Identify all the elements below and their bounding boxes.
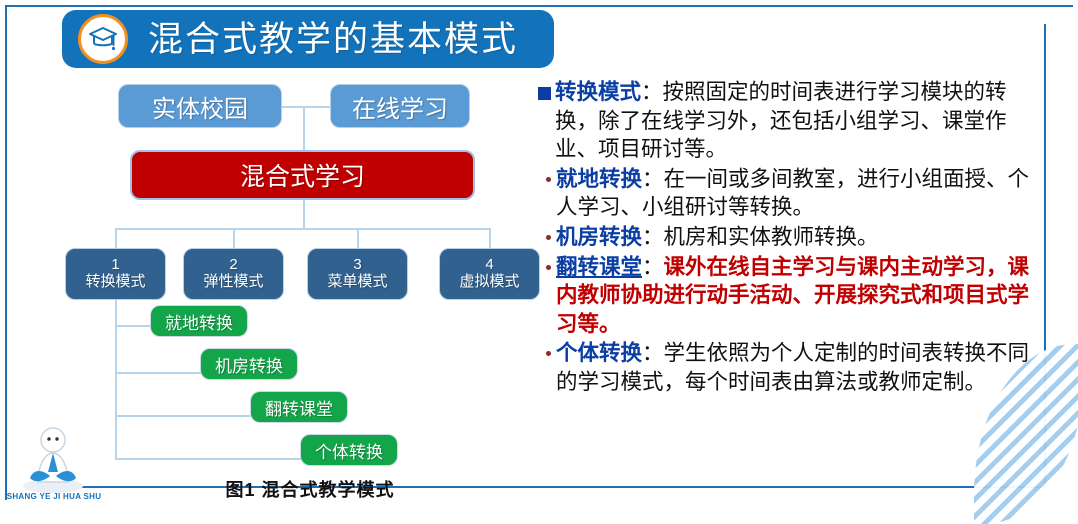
- page-title: 混合式教学的基本模式: [148, 14, 518, 66]
- node-label: 实体校园: [152, 89, 248, 124]
- dot-bullet-icon: [546, 235, 551, 240]
- connector-drop-4: [489, 228, 491, 248]
- bullet-separator: ：: [642, 255, 664, 279]
- main-separator: ：: [641, 80, 663, 104]
- bullet-label: 机房转换: [556, 225, 642, 249]
- paragraph-main: 转换模式：按照固定的时间表进行学习模块的转换，除了在线学习外，还包括小组学习、课…: [538, 78, 1038, 164]
- node-physical-campus[interactable]: 实体校园: [118, 84, 282, 128]
- slide-canvas: 混合式教学的基本模式 实体校园 在线学习 混合式学习 1 转换模式 2: [0, 0, 1078, 514]
- bullet-separator: ：: [642, 341, 664, 365]
- frame-border-top: [5, 5, 1073, 7]
- bullet-body-text: 机房和实体教师转换。: [664, 225, 879, 249]
- connector-mode-bus: [115, 228, 491, 230]
- connector-center-down: [303, 200, 305, 228]
- connector-drop-2: [233, 228, 235, 248]
- dot-bullet-icon: [546, 265, 551, 270]
- bullet-label: 个体转换: [556, 341, 642, 365]
- bullet-text: 翻转课堂：课外在线自主学习与课内主动学习，课内教师协助进行动手活动、开展探究式和…: [556, 253, 1038, 339]
- node-mode-3-menu[interactable]: 3 菜单模式: [307, 248, 408, 300]
- node-online-learning[interactable]: 在线学习: [330, 84, 470, 128]
- connector-sub-branch-1: [115, 325, 155, 327]
- mascot-logo-icon: [10, 420, 96, 498]
- node-label: 个体转换: [315, 438, 383, 463]
- text-panel: 转换模式：按照固定的时间表进行学习模块的转换，除了在线学习外，还包括小组学习、课…: [538, 78, 1038, 398]
- bullet-separator: ：: [642, 167, 664, 191]
- paragraph-main-text: 转换模式：按照固定的时间表进行学习模块的转换，除了在线学习外，还包括小组学习、课…: [555, 78, 1038, 164]
- node-label: 机房转换: [215, 352, 283, 377]
- bullet-item-flipped: 翻转课堂：课外在线自主学习与课内主动学习，课内教师协助进行动手活动、开展探究式和…: [538, 253, 1038, 339]
- bullet-text: 机房转换：机房和实体教师转换。: [556, 223, 1038, 252]
- node-blended-learning[interactable]: 混合式学习: [130, 150, 475, 200]
- main-label: 转换模式: [555, 80, 641, 104]
- node-label: 转换模式: [85, 274, 145, 291]
- bullet-label: 翻转课堂: [556, 255, 642, 279]
- bullet-text: 个体转换：学生依照为个人定制的时间表转换不同的学习模式，每个时间表由算法或教师定…: [556, 339, 1038, 396]
- node-number: 3: [353, 257, 361, 274]
- bullet-item-individual: 个体转换：学生依照为个人定制的时间表转换不同的学习模式，每个时间表由算法或教师定…: [538, 339, 1038, 396]
- node-mode-2-flexible[interactable]: 2 弹性模式: [183, 248, 284, 300]
- connector-sub-branch-3: [115, 415, 255, 417]
- node-sub-flipped-classroom[interactable]: 翻转课堂: [250, 391, 348, 423]
- connector-drop-1: [115, 228, 117, 248]
- node-label: 虚拟模式: [459, 274, 519, 291]
- connector-top-horizontal: [280, 106, 332, 108]
- bullet-label: 就地转换: [556, 167, 642, 191]
- bullet-item-onsite: 就地转换：在一间或多间教室，进行小组面授、个人学习、小组研讨等转换。: [538, 165, 1038, 222]
- bullet-item-lab: 机房转换：机房和实体教师转换。: [538, 223, 1038, 252]
- graduation-cap-icon: [78, 14, 128, 64]
- node-number: 1: [111, 257, 119, 274]
- node-sub-lab-conversion[interactable]: 机房转换: [200, 348, 298, 380]
- node-label: 混合式学习: [240, 157, 365, 193]
- node-sub-individual-conversion[interactable]: 个体转换: [300, 434, 398, 466]
- dot-bullet-icon: [546, 351, 551, 356]
- node-label: 在线学习: [352, 89, 448, 124]
- node-number: 4: [485, 257, 493, 274]
- header-banner: 混合式教学的基本模式: [62, 10, 554, 68]
- dot-bullet-icon: [546, 177, 551, 182]
- node-label: 翻转课堂: [265, 395, 333, 420]
- figure-caption: 图1 混合式教学模式: [185, 476, 435, 502]
- connector-sub-spine: [115, 300, 117, 458]
- logo-caption: SHANG YE JI HUA SHU: [4, 492, 104, 501]
- connector-top-to-center: [303, 106, 305, 150]
- node-number: 2: [229, 257, 237, 274]
- node-label: 菜单模式: [327, 274, 387, 291]
- connector-sub-branch-4: [115, 458, 305, 460]
- node-mode-1-conversion[interactable]: 1 转换模式: [65, 248, 166, 300]
- bullet-text: 就地转换：在一间或多间教室，进行小组面授、个人学习、小组研讨等转换。: [556, 165, 1038, 222]
- bullet-separator: ：: [642, 225, 664, 249]
- node-label: 弹性模式: [203, 274, 263, 291]
- square-bullet-icon: [538, 87, 551, 100]
- node-label: 就地转换: [165, 309, 233, 334]
- connector-drop-3: [357, 228, 359, 248]
- node-mode-4-virtual[interactable]: 4 虚拟模式: [439, 248, 540, 300]
- connector-sub-branch-2: [115, 372, 205, 374]
- node-sub-onsite-conversion[interactable]: 就地转换: [150, 305, 248, 337]
